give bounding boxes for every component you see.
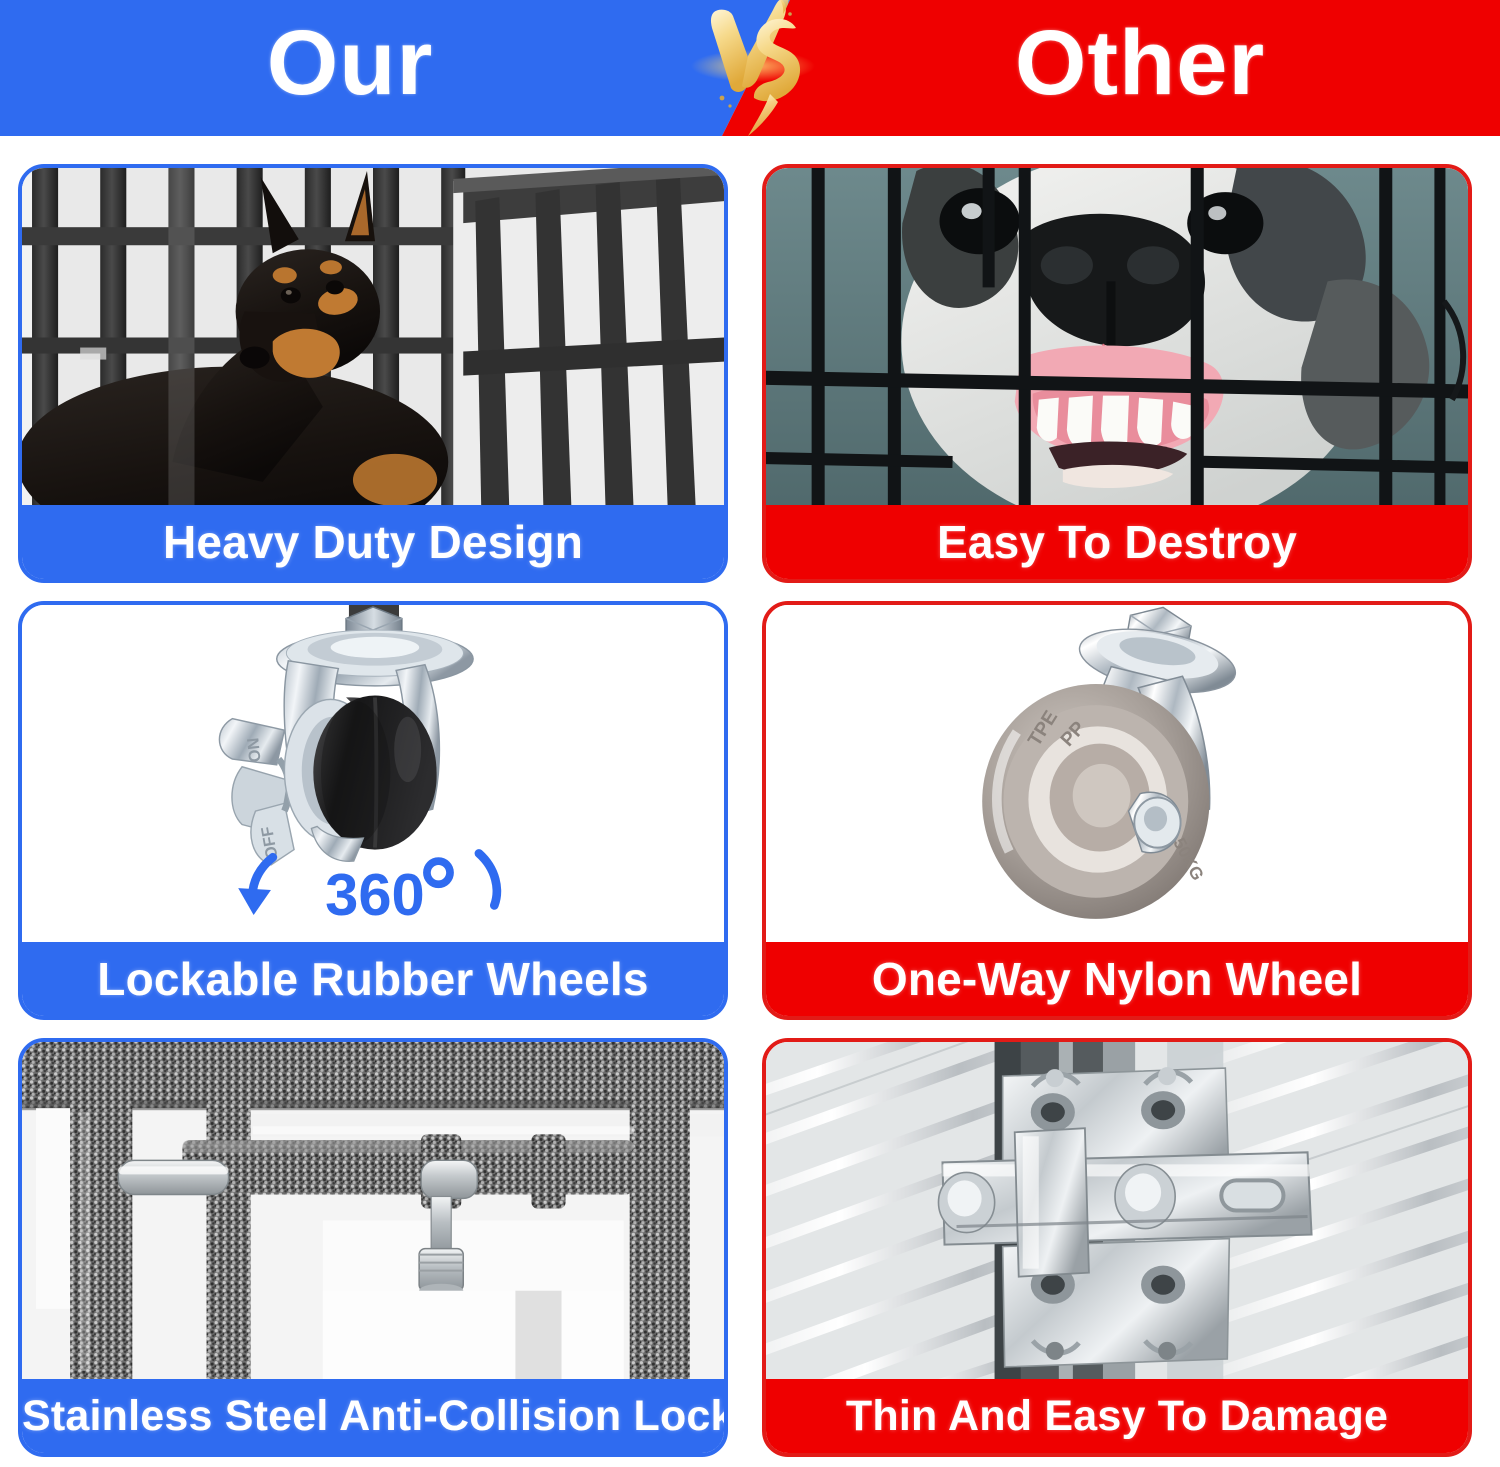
panel-other-one-way-nylon-wheel[interactable]: TPE PP 50KG One-Way Nylon Wheel	[762, 601, 1472, 1020]
header-banner: Our Other	[0, 0, 1500, 136]
panel-ours-anti-collision-lock[interactable]: Stainless Steel Anti-Collision Lock	[18, 1038, 728, 1457]
image-fixed-nylon-caster-wheel: TPE PP 50KG	[766, 605, 1468, 942]
panel-other-easy-to-destroy[interactable]: Easy To Destroy	[762, 164, 1472, 583]
image-doberman-in-steel-cage	[22, 168, 724, 505]
image-stainless-steel-anti-collision-latch	[22, 1042, 724, 1379]
versus-flame-icon	[678, 0, 828, 136]
rotation-degrees-text: 360	[325, 861, 425, 928]
header-other-label: Other	[810, 0, 1470, 136]
caption-ours-row3: Stainless Steel Anti-Collision Lock	[22, 1379, 724, 1453]
caption-other-row3: Thin And Easy To Damage	[766, 1379, 1468, 1453]
caption-other-row1: Easy To Destroy	[766, 505, 1468, 579]
caption-ours-row2: Lockable Rubber Wheels	[22, 942, 724, 1016]
image-lockable-swivel-rubber-caster: ON OFF	[22, 605, 724, 942]
caster-lever-on-text: ON	[244, 737, 264, 763]
panel-ours-lockable-rubber-wheels[interactable]: ON OFF	[18, 601, 728, 1020]
caption-other-row2: One-Way Nylon Wheel	[766, 942, 1468, 1016]
caption-ours-row1: Heavy Duty Design	[22, 505, 724, 579]
image-thin-sheet-metal-latch	[766, 1042, 1468, 1379]
comparison-infographic: Our Other	[0, 0, 1500, 1467]
panel-ours-heavy-duty-design[interactable]: Heavy Duty Design	[18, 164, 728, 583]
panel-other-thin-easy-to-damage[interactable]: Thin And Easy To Damage	[762, 1038, 1472, 1457]
comparison-grid: Heavy Duty Design	[0, 136, 1500, 1467]
image-husky-biting-wire-cage	[766, 168, 1468, 505]
header-our-label: Our	[0, 0, 700, 136]
